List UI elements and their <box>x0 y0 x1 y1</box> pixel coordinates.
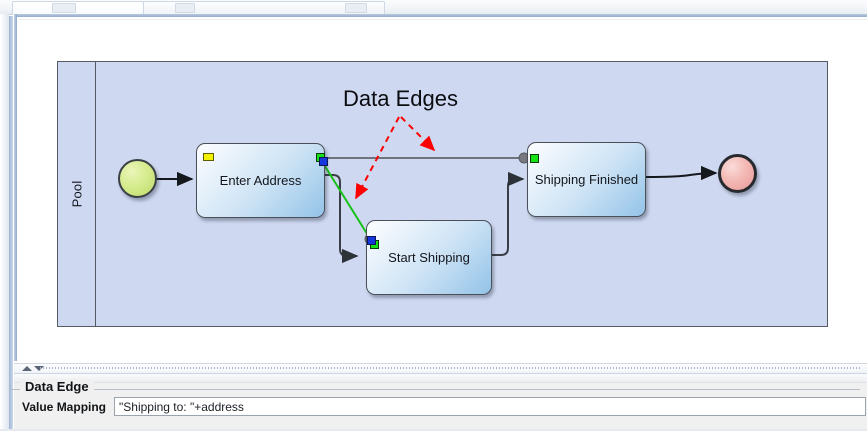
splitter-grip[interactable] <box>40 367 860 371</box>
start-event-node[interactable] <box>118 159 157 198</box>
task-enter-address[interactable]: Enter Address <box>196 143 325 218</box>
start-shipping-blue-data-port[interactable] <box>367 236 376 245</box>
pool-header[interactable]: Pool <box>58 62 96 326</box>
tab-3-nub <box>345 3 367 13</box>
left-gutter <box>0 14 9 431</box>
enter-address-blue-data-port[interactable] <box>319 157 328 166</box>
end-event-node[interactable] <box>718 154 757 193</box>
properties-panel-top-edge <box>14 374 867 383</box>
application-window: Pool <box>0 0 867 431</box>
task-start-shipping[interactable]: Start Shipping <box>366 220 492 295</box>
task-enter-address-label: Enter Address <box>220 173 302 188</box>
collapse-up-arrow[interactable] <box>22 366 32 371</box>
data-edge-group-border <box>10 389 860 390</box>
shipping-finished-green-data-port[interactable] <box>530 154 539 163</box>
enter-address-yellow-marker[interactable] <box>203 153 214 161</box>
editor-inner-top-line <box>19 19 867 20</box>
annotation-label: Data Edges <box>343 86 458 112</box>
value-mapping-label: Value Mapping <box>22 400 106 414</box>
pool-label: Pool <box>69 181 84 208</box>
tab-1-nub <box>52 3 76 13</box>
tab-2-nub <box>175 3 195 13</box>
value-mapping-input[interactable] <box>114 397 866 416</box>
left-gutter-bevel <box>9 16 13 431</box>
tab-1[interactable] <box>12 1 144 15</box>
editor-left-bevel <box>14 14 17 361</box>
task-shipping-finished-label: Shipping Finished <box>535 172 638 187</box>
task-start-shipping-label: Start Shipping <box>388 250 470 265</box>
data-edge-group-title: Data Edge <box>20 379 94 394</box>
tab-strip <box>0 0 867 15</box>
task-shipping-finished[interactable]: Shipping Finished <box>527 142 646 217</box>
